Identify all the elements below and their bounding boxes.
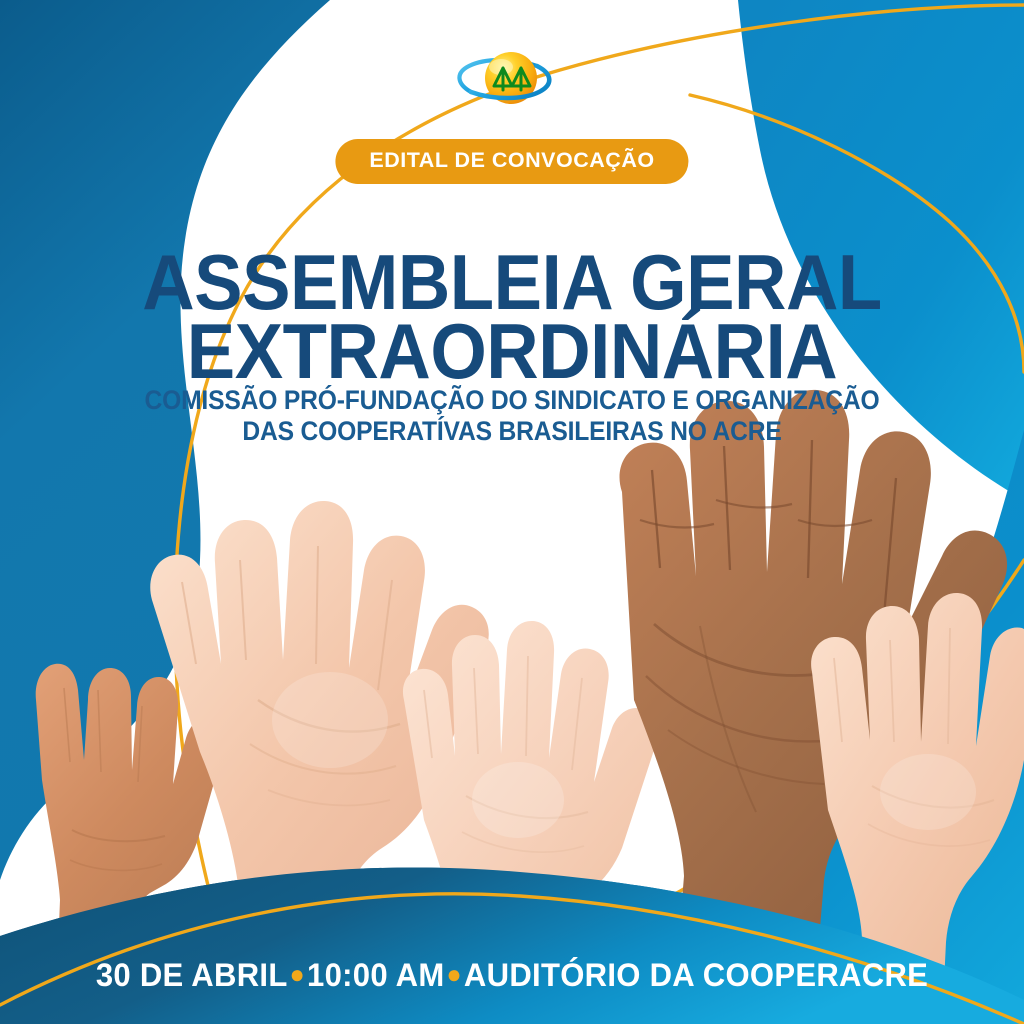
page-title: ASSEMBLEIA GERAL EXTRAORDINÁRIA <box>36 248 988 385</box>
separator-dot-1: ● <box>288 959 307 989</box>
event-venue: AUDITÓRIO DA COOPERACRE <box>464 957 928 993</box>
edital-badge: EDITAL DE CONVOCAÇÃO <box>335 139 688 184</box>
poster-canvas: EDITAL DE CONVOCAÇÃO ASSEMBLEIA GERAL EX… <box>0 0 1024 1024</box>
logo-icon <box>447 40 577 124</box>
event-details: 30 DE ABRIL●10:00 AM●AUDITÓRIO DA COOPER… <box>15 957 1008 994</box>
event-time: 10:00 AM <box>307 957 444 993</box>
cooperacre-logo <box>447 40 577 124</box>
event-date: 30 DE ABRIL <box>96 957 288 993</box>
subtitle-line-1: COMISSÃO PRÓ-FUNDAÇÃO DO SINDICATO E ORG… <box>36 385 988 416</box>
subtitle-line-2: DAS COOPERATÍVAS BRASILEIRAS NO ACRE <box>36 416 988 447</box>
page-subtitle: COMISSÃO PRÓ-FUNDAÇÃO DO SINDICATO E ORG… <box>36 385 988 448</box>
title-line-2: EXTRAORDINÁRIA <box>36 317 988 386</box>
separator-dot-2: ● <box>444 959 463 989</box>
